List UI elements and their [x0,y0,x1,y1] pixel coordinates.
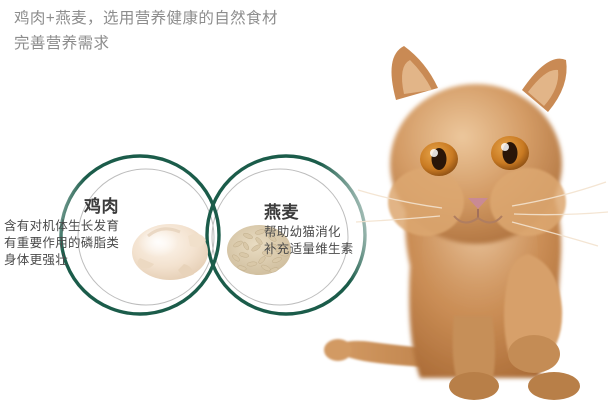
ingredient-chicken: 鸡肉 含有对机体生长发育 有重要作用的磷脂类 身体更强壮 [0,196,132,269]
page-title: 鸡肉+燕麦，选用营养健康的自然食材 完善营养需求 [14,6,364,56]
promo-banner: 鸡肉+燕麦，选用营养健康的自然食材 完善营养需求 [0,0,611,417]
ingredient-chicken-title: 鸡肉 [84,196,132,217]
cat-head [356,46,608,246]
raw-whole-chicken-photo [128,212,212,284]
ingredient-chicken-description: 含有对机体生长发育 有重要作用的磷脂类 身体更强壮 [4,218,132,269]
ginger-british-shorthair-cat-photo [322,16,611,417]
